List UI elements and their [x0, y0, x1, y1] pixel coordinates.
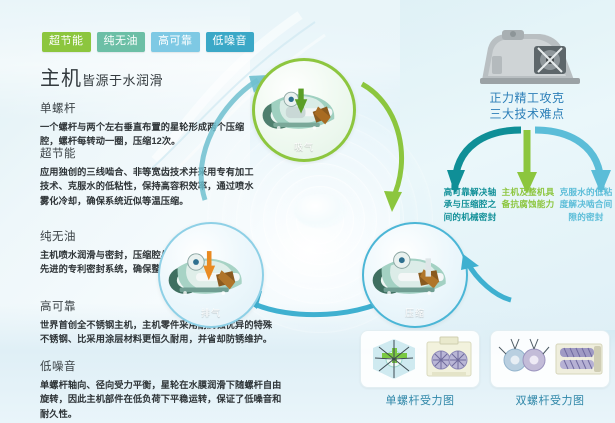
compressor-cutaway-icon [259, 72, 348, 143]
compare-caption-single-screw: 单螺杆受力图 [360, 392, 480, 408]
intake-label: 吸气 [294, 140, 314, 162]
compare-panel-twin-screw[interactable] [490, 330, 610, 388]
page-title-main: 主机 [40, 68, 82, 90]
badge-low-noise[interactable]: 低噪音 [206, 32, 255, 52]
compare-pointer-arrow [455, 250, 515, 310]
right-panel-title-line1: 正力精工攻克 [452, 90, 602, 106]
compressor-cutaway-icon [369, 236, 460, 308]
badge-super-efficient[interactable]: 超节能 [42, 32, 91, 52]
exhaust-label: 排气 [201, 306, 221, 328]
badge-oil-free[interactable]: 纯无油 [97, 32, 146, 52]
section-low-noise: 低噪音 单螺杆轴向、径向受力平衡，星轮在水膜润滑下随螺杆自由旋转，因此主机部件在… [40, 358, 290, 421]
cycle-stage-intake[interactable]: 吸气 [252, 58, 356, 162]
cycle-stage-compression[interactable]: 压缩 [362, 222, 468, 328]
cycle-stage-exhaust[interactable]: 排气 [158, 222, 264, 328]
compressor-cutaway-icon [165, 236, 256, 308]
right-panel-arrows [443, 124, 615, 194]
right-panel-title-line2: 三大技术难点 [452, 106, 602, 122]
infographic-page: 超节能 纯无油 高可靠 低噪音 主机皆源于水润滑 单螺杆 一个螺杆与两个左右垂直… [0, 0, 615, 423]
feature-badge-row: 超节能 纯无油 高可靠 低噪音 [42, 32, 254, 52]
difficulty-column-3: 克服水的低粘度解决啮合间隙的密封 [559, 186, 613, 223]
single-screw-force-diagram-icon [367, 336, 421, 382]
twin-screw-rotor-icon [554, 336, 604, 382]
section-body: 单螺杆轴向、径向受力平衡，星轮在水膜润滑下随螺杆自由旋转，因此主机部件在低负荷下… [40, 378, 290, 421]
difficulty-column-2: 主机及整机具备抗腐蚀能力 [501, 186, 555, 223]
compare-caption-twin-screw: 双螺杆受力图 [490, 392, 610, 408]
product-photo-icon [478, 26, 582, 88]
single-screw-rotor-icon [424, 336, 474, 382]
twin-screw-force-diagram-icon [497, 336, 551, 382]
badge-high-reliability[interactable]: 高可靠 [151, 32, 200, 52]
page-title: 主机皆源于水润滑 [40, 62, 163, 91]
difficulty-column-1: 高可靠解决轴承与压缩腔之间的机械密封 [443, 186, 497, 223]
compare-panel-single-screw[interactable] [360, 330, 480, 388]
right-panel-title: 正力精工攻克 三大技术难点 [452, 90, 602, 122]
section-heading: 低噪音 [40, 358, 290, 374]
compress-label: 压缩 [405, 306, 425, 328]
right-panel-columns: 高可靠解决轴承与压缩腔之间的机械密封 主机及整机具备抗腐蚀能力 克服水的低粘度解… [443, 186, 615, 223]
